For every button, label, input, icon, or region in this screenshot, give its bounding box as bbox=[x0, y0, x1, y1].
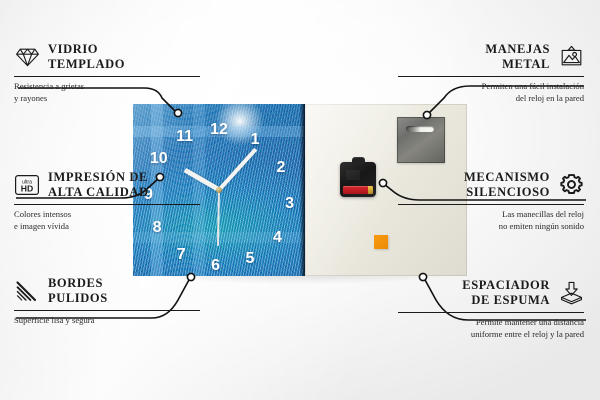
callout-description: Permite mantener una distancia uniforme … bbox=[398, 317, 584, 340]
callout-description: Permiten una fácil instalación del reloj… bbox=[398, 81, 584, 104]
polished-edge-icon bbox=[14, 278, 40, 304]
callout-description: Superficie lisa y segura bbox=[14, 315, 200, 327]
callout-title: IMPRESIÓN DE ALTA CALIDAD bbox=[48, 170, 149, 200]
picture-hanger-icon bbox=[558, 44, 584, 70]
callout-mecanismo-silencioso: MECANISMO SILENCIOSO Las manecillas del … bbox=[398, 170, 584, 232]
ultra-hd-icon: ultra HD bbox=[14, 172, 40, 198]
clock-numeral-3: 3 bbox=[285, 196, 294, 212]
battery bbox=[343, 186, 373, 194]
callout-divider bbox=[14, 204, 200, 206]
callout-divider bbox=[14, 76, 200, 78]
clock-numeral-1: 1 bbox=[251, 132, 260, 148]
infographic-canvas: 12 1 2 3 4 5 6 7 8 9 10 11 bbox=[0, 0, 600, 400]
battery-contact bbox=[368, 186, 373, 194]
callout-espaciador-espuma: ESPACIADOR DE ESPUMA Permite mantener un… bbox=[398, 278, 584, 340]
mechanism-hanging-tab bbox=[352, 157, 365, 164]
callout-title: MANEJAS METAL bbox=[485, 42, 550, 72]
callout-bordes-pulidos: BORDES PULIDOS Superficie lisa y segura bbox=[14, 276, 200, 327]
callout-header: VIDRIO TEMPLADO bbox=[14, 42, 200, 72]
clock-numeral-5: 5 bbox=[246, 251, 255, 267]
callout-manejas-metal: MANEJAS METAL Permiten una fácil instala… bbox=[398, 42, 584, 104]
callout-header: MANEJAS METAL bbox=[398, 42, 584, 72]
callout-title: MECANISMO SILENCIOSO bbox=[464, 170, 550, 200]
callout-divider bbox=[398, 312, 584, 314]
clock-numeral-2: 2 bbox=[276, 160, 285, 176]
callout-divider bbox=[398, 76, 584, 78]
foam-spacer bbox=[374, 235, 388, 249]
clock-numeral-6: 6 bbox=[211, 258, 220, 274]
diamond-icon bbox=[14, 44, 40, 70]
callout-vidrio-templado: VIDRIO TEMPLADO Resistencia a grietas y … bbox=[14, 42, 200, 104]
metal-hanger-plate bbox=[397, 117, 445, 163]
callout-description: Colores intensos e imagen vívida bbox=[14, 209, 200, 232]
quartz-mechanism-box bbox=[340, 162, 376, 197]
mechanism-detail bbox=[346, 170, 360, 180]
hanger-keyhole-slot bbox=[406, 126, 434, 132]
clock-center-hub bbox=[216, 187, 222, 193]
foam-spacer-icon bbox=[558, 280, 584, 306]
callout-header: ESPACIADOR DE ESPUMA bbox=[398, 278, 584, 308]
clock-numeral-7: 7 bbox=[177, 247, 186, 263]
clock-numeral-10: 10 bbox=[150, 151, 168, 167]
svg-text:HD: HD bbox=[21, 183, 33, 193]
callout-divider bbox=[398, 204, 584, 206]
callout-header: ultra HD IMPRESIÓN DE ALTA CALIDAD bbox=[14, 170, 200, 200]
callout-header: BORDES PULIDOS bbox=[14, 276, 200, 306]
callout-description: Las manecillas del reloj no emiten ningú… bbox=[398, 209, 584, 232]
callout-description: Resistencia a grietas y rayones bbox=[14, 81, 200, 104]
callout-title: BORDES PULIDOS bbox=[48, 276, 108, 306]
clock-numeral-12: 12 bbox=[210, 122, 228, 138]
callout-header: MECANISMO SILENCIOSO bbox=[398, 170, 584, 200]
callout-divider bbox=[14, 310, 200, 312]
clock-numeral-4: 4 bbox=[273, 230, 282, 246]
callout-title: VIDRIO TEMPLADO bbox=[48, 42, 125, 72]
callout-title: ESPACIADOR DE ESPUMA bbox=[462, 278, 550, 308]
callout-impresion-alta-calidad: ultra HD IMPRESIÓN DE ALTA CALIDAD Color… bbox=[14, 170, 200, 232]
gear-icon bbox=[558, 172, 584, 198]
clock-numeral-11: 11 bbox=[176, 129, 193, 145]
